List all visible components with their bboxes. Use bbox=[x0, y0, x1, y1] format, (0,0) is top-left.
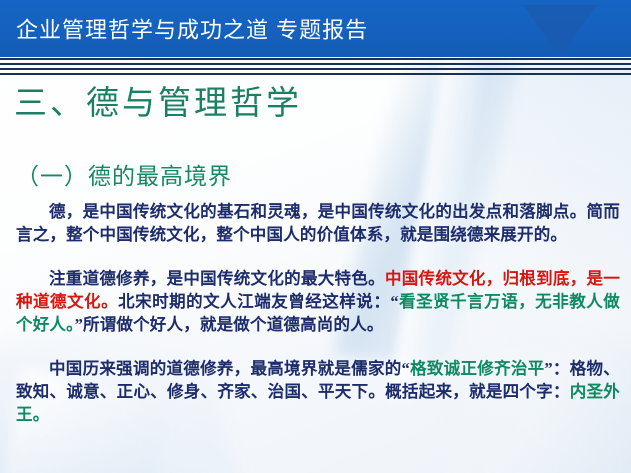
header-bar: 企业管理哲学与成功之道 专题报告 bbox=[0, 0, 631, 57]
header-rule-group bbox=[0, 57, 631, 75]
paragraph-3: 中国历来强调的道德修养，最高境界就是儒家的“格致诚正修齐治平”：格物、致知、诚意… bbox=[16, 357, 620, 426]
paragraph-2-segment-b: 北宋时期的文人江端友曾经这样说：“ bbox=[118, 292, 399, 311]
triangle-down-icon bbox=[523, 5, 597, 57]
paragraph-2-segment-c: ”所谓做个好人，就是做个道德高尚的人。 bbox=[75, 315, 384, 334]
header-rule-4 bbox=[0, 73, 631, 75]
paragraph-3-segment-a: 中国历来强调的道德修养，最高境界就是儒家的“ bbox=[49, 359, 410, 378]
header-rule-3 bbox=[0, 68, 631, 70]
paragraph-2-segment-a: 注重道德修养，是中国传统文化的最大特色。 bbox=[49, 269, 385, 288]
header-rule-1 bbox=[0, 58, 631, 60]
header-rule-2 bbox=[0, 63, 631, 65]
paragraph-1-text: 德，是中国传统文化的基石和灵魂，是中国传统文化的出发点和落脚点。简而言之，整个中… bbox=[16, 202, 620, 244]
slide-subtitle: （一）德的最高境界 bbox=[16, 157, 232, 191]
paragraph-1: 德，是中国传统文化的基石和灵魂，是中国传统文化的出发点和落脚点。简而言之，整个中… bbox=[16, 200, 620, 246]
slide-title: 三、德与管理哲学 bbox=[14, 76, 302, 124]
slide-canvas: 企业管理哲学与成功之道 专题报告 三、德与管理哲学 （一）德的最高境界 德，是中… bbox=[0, 0, 631, 473]
slide-body: 德，是中国传统文化的基石和灵魂，是中国传统文化的出发点和落脚点。简而言之，整个中… bbox=[16, 200, 620, 439]
header-title: 企业管理哲学与成功之道 专题报告 bbox=[16, 12, 368, 44]
paragraph-3-highlight-green-1: 格致诚正修齐治平 bbox=[410, 359, 544, 378]
paragraph-2: 注重道德修养，是中国传统文化的最大特色。中国传统文化，归根到底，是一种道德文化。… bbox=[16, 267, 620, 336]
